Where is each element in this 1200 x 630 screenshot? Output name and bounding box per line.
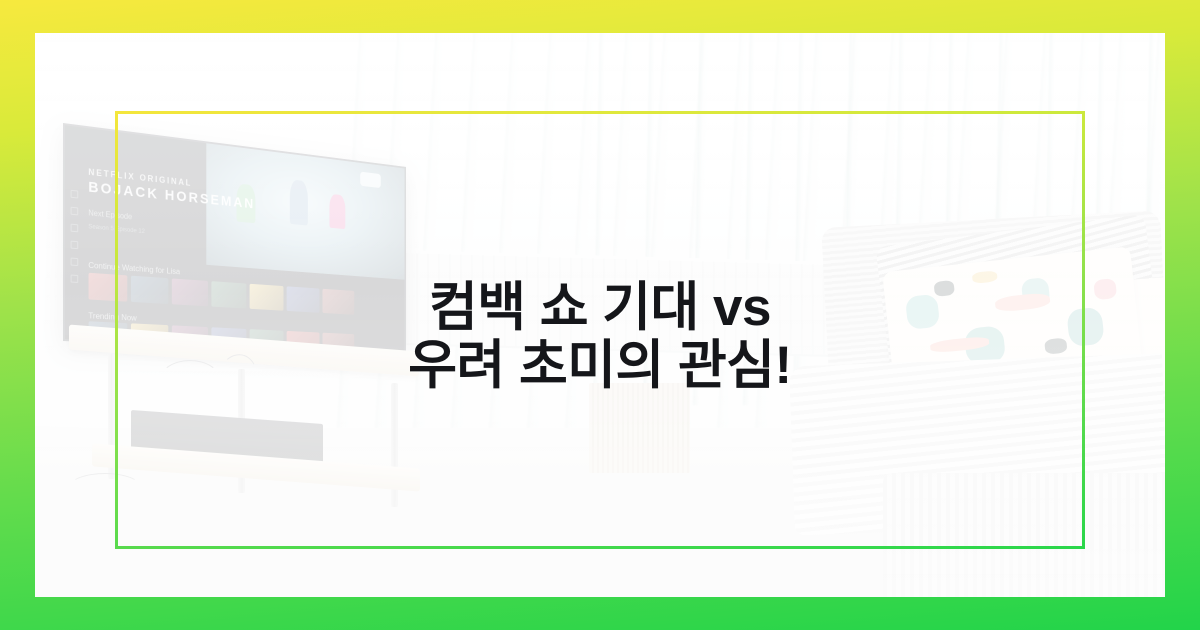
tv-tile xyxy=(172,278,208,306)
tv-tile xyxy=(323,289,355,315)
cable xyxy=(69,473,141,501)
movies-icon xyxy=(71,241,79,250)
tv-tile xyxy=(131,276,168,304)
banner-plate: NETFLIX ORIGINAL BOJACK HORSEMAN Next Ep… xyxy=(35,33,1165,597)
tv-tile xyxy=(250,284,284,311)
tv-screen-ui: NETFLIX ORIGINAL BOJACK HORSEMAN Next Ep… xyxy=(65,125,405,353)
tv-episode-info: Season 5 Episode 12 xyxy=(89,224,146,236)
tv-tile xyxy=(211,281,246,308)
tv-tile xyxy=(89,273,128,302)
home-icon xyxy=(71,207,79,216)
wicker-basket xyxy=(589,383,691,473)
background-photo: NETFLIX ORIGINAL BOJACK HORSEMAN Next Ep… xyxy=(35,33,1165,597)
tv-sidebar-nav xyxy=(71,190,79,283)
tv-shows-icon xyxy=(71,224,79,233)
sofa-seat-front xyxy=(883,473,1166,597)
search-icon xyxy=(71,190,79,199)
tv-hero-artwork xyxy=(206,143,405,279)
tv-next-episode-label: Next Episode xyxy=(89,209,133,222)
tv-tile xyxy=(287,286,320,312)
downloads-icon xyxy=(71,275,79,283)
cable xyxy=(159,360,221,402)
add-icon xyxy=(71,258,79,267)
tv-row-continue-watching xyxy=(89,273,355,315)
banner-root: NETFLIX ORIGINAL BOJACK HORSEMAN Next Ep… xyxy=(0,0,1200,630)
